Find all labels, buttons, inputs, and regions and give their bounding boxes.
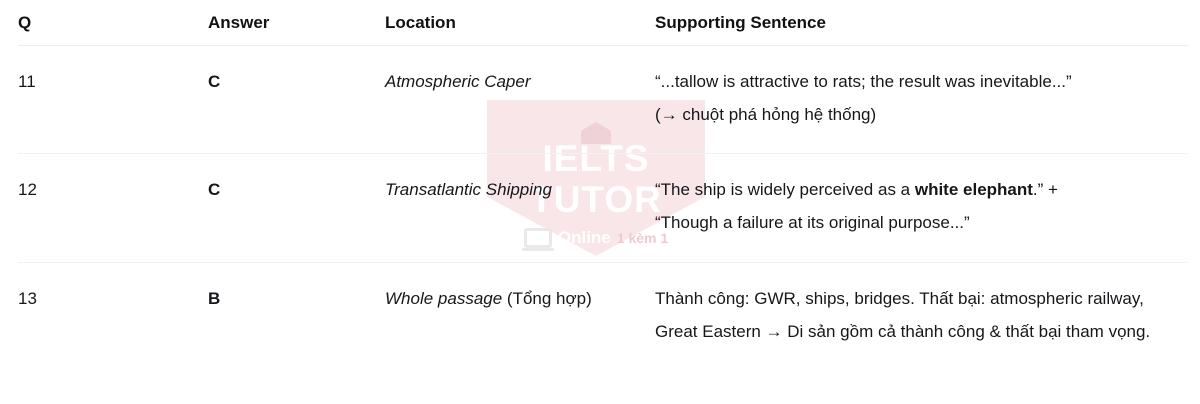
answers-table: Q Answer Location Supporting Sentence 11… (18, 0, 1188, 370)
table-header-row: Q Answer Location Supporting Sentence (18, 0, 1188, 46)
cell-location: Transatlantic Shipping (385, 154, 655, 262)
cell-supporting-sentence: “...tallow is attractive to rats; the re… (655, 46, 1188, 154)
cell-answer: B (208, 262, 385, 370)
table-body: 11CAtmospheric Caper“...tallow is attrac… (18, 46, 1188, 370)
cell-question-number: 12 (18, 154, 208, 262)
cell-location: Atmospheric Caper (385, 46, 655, 154)
cell-answer: C (208, 154, 385, 262)
cell-question-number: 13 (18, 262, 208, 370)
column-header-location: Location (385, 0, 655, 46)
cell-location: Whole passage (Tổng hợp) (385, 262, 655, 370)
supporting-sentence-keyword: white elephant (915, 180, 1033, 199)
supporting-sentence-line: “Though a failure at its original purpos… (655, 206, 1178, 239)
table-row: 13BWhole passage (Tổng hợp)Thành công: G… (18, 262, 1188, 370)
location-italic-text: Transatlantic Shipping (385, 180, 552, 199)
table-container: Q Answer Location Supporting Sentence 11… (0, 0, 1200, 370)
column-header-sentence: Supporting Sentence (655, 0, 1188, 46)
cell-question-number: 11 (18, 46, 208, 154)
table-row: 11CAtmospheric Caper“...tallow is attrac… (18, 46, 1188, 154)
location-italic-text: Atmospheric Caper (385, 72, 531, 91)
supporting-sentence-line: Thành công: GWR, ships, bridges. Thất bạ… (655, 282, 1178, 348)
location-italic-text: Whole passage (385, 289, 502, 308)
supporting-sentence-line: (→ chuột phá hỏng hệ thống) (655, 98, 1178, 131)
table-row: 12CTransatlantic Shipping“The ship is wi… (18, 154, 1188, 262)
column-header-q: Q (18, 0, 208, 46)
column-header-answer: Answer (208, 0, 385, 46)
supporting-sentence-line: “...tallow is attractive to rats; the re… (655, 65, 1178, 98)
table-header: Q Answer Location Supporting Sentence (18, 0, 1188, 46)
location-plain-text: (Tổng hợp) (502, 289, 592, 308)
cell-supporting-sentence: Thành công: GWR, ships, bridges. Thất bạ… (655, 262, 1188, 370)
supporting-sentence-line: “The ship is widely perceived as a white… (655, 173, 1178, 206)
cell-supporting-sentence: “The ship is widely perceived as a white… (655, 154, 1188, 262)
page-root: IELTS TUTOR Online 1 kèm 1 Q Answer Loca… (0, 0, 1200, 404)
cell-answer: C (208, 46, 385, 154)
